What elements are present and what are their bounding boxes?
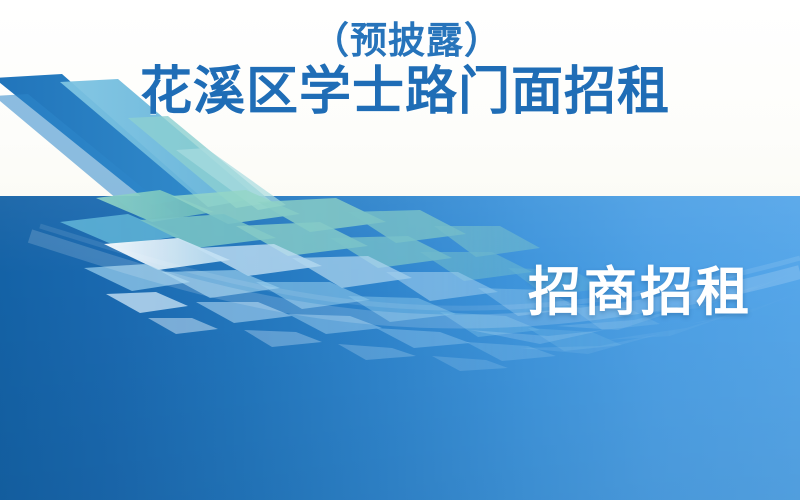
poster-headline: （预披露） 花溪区学士路门面招租 [0, 22, 800, 119]
headline-line-2: 花溪区学士路门面招租 [0, 65, 800, 120]
poster-canvas: （预披露） 花溪区学士路门面招租 招商招租 [0, 0, 800, 500]
headline-line-1: （预披露） [0, 22, 800, 61]
poster-subline: 招商招租 [528, 250, 752, 326]
background-band-blue [0, 196, 800, 500]
